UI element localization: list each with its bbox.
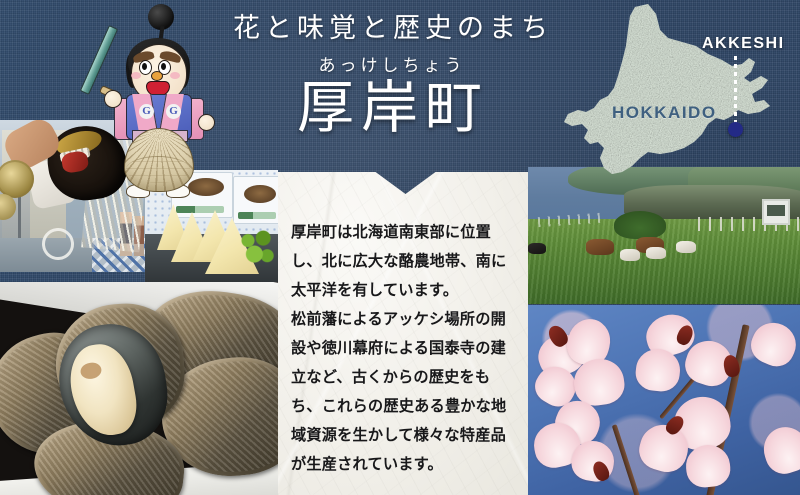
map-label-hokkaido: HOKKAIDO [612, 103, 717, 123]
horses-coastal-pasture-photo [528, 167, 800, 304]
mascot-crest-left: G [139, 104, 154, 119]
mascot-hand-left [104, 90, 122, 108]
town-name-furigana: あっけしちょう [229, 51, 555, 76]
hokkaido-map: HOKKAIDO AKKESHI [556, 2, 800, 182]
akkeshi-location-dot [728, 122, 743, 137]
cherry-blossoms-photo [528, 305, 800, 495]
description-panel: 厚岸町は北海道南東部に位置し、北に広大な酪農地帯、南に太平洋を有しています。 松… [278, 170, 528, 495]
mascot-pupil-right [161, 63, 166, 70]
map-label-akkeshi: AKKESHI [702, 35, 785, 53]
mascot-cheek-left [131, 72, 141, 79]
hokkaido-island-shape [556, 2, 800, 182]
mascot-shell-ridge [126, 156, 190, 183]
akkeshi-town-banner: 花と味覚と歴史のまち あっけしちょう 厚岸町 [0, 0, 800, 495]
description-paragraph-2: 松前藩によるアッケシ場所の開設や徳川幕府による国泰寺の建立など、古くからの歴史を… [291, 305, 517, 479]
mascot-nose [151, 71, 163, 81]
tagline: 花と味覚と歴史のまち [231, 14, 555, 44]
mascot-crest-right: G [166, 104, 181, 119]
mascot-hand-right [198, 114, 215, 131]
description-paragraph-1: 厚岸町は北海道南東部に位置し、北に広大な酪農地帯、南に太平洋を有しています。 [291, 218, 517, 305]
header-text-block: 花と味覚と歴史のまち あっけしちょう 厚岸町 [225, 14, 555, 137]
akkeshi-mascot-character: G G [96, 2, 212, 174]
akkeshi-leader-line [734, 56, 737, 124]
mascot-pupil-left [142, 63, 147, 70]
oysters-in-tray-photo [0, 282, 278, 495]
mascot-cheek-right [170, 72, 180, 79]
town-name: 厚岸町 [231, 80, 555, 137]
description-text: 厚岸町は北海道南東部に位置し、北に広大な酪農地帯、南に太平洋を有しています。 松… [291, 218, 517, 479]
